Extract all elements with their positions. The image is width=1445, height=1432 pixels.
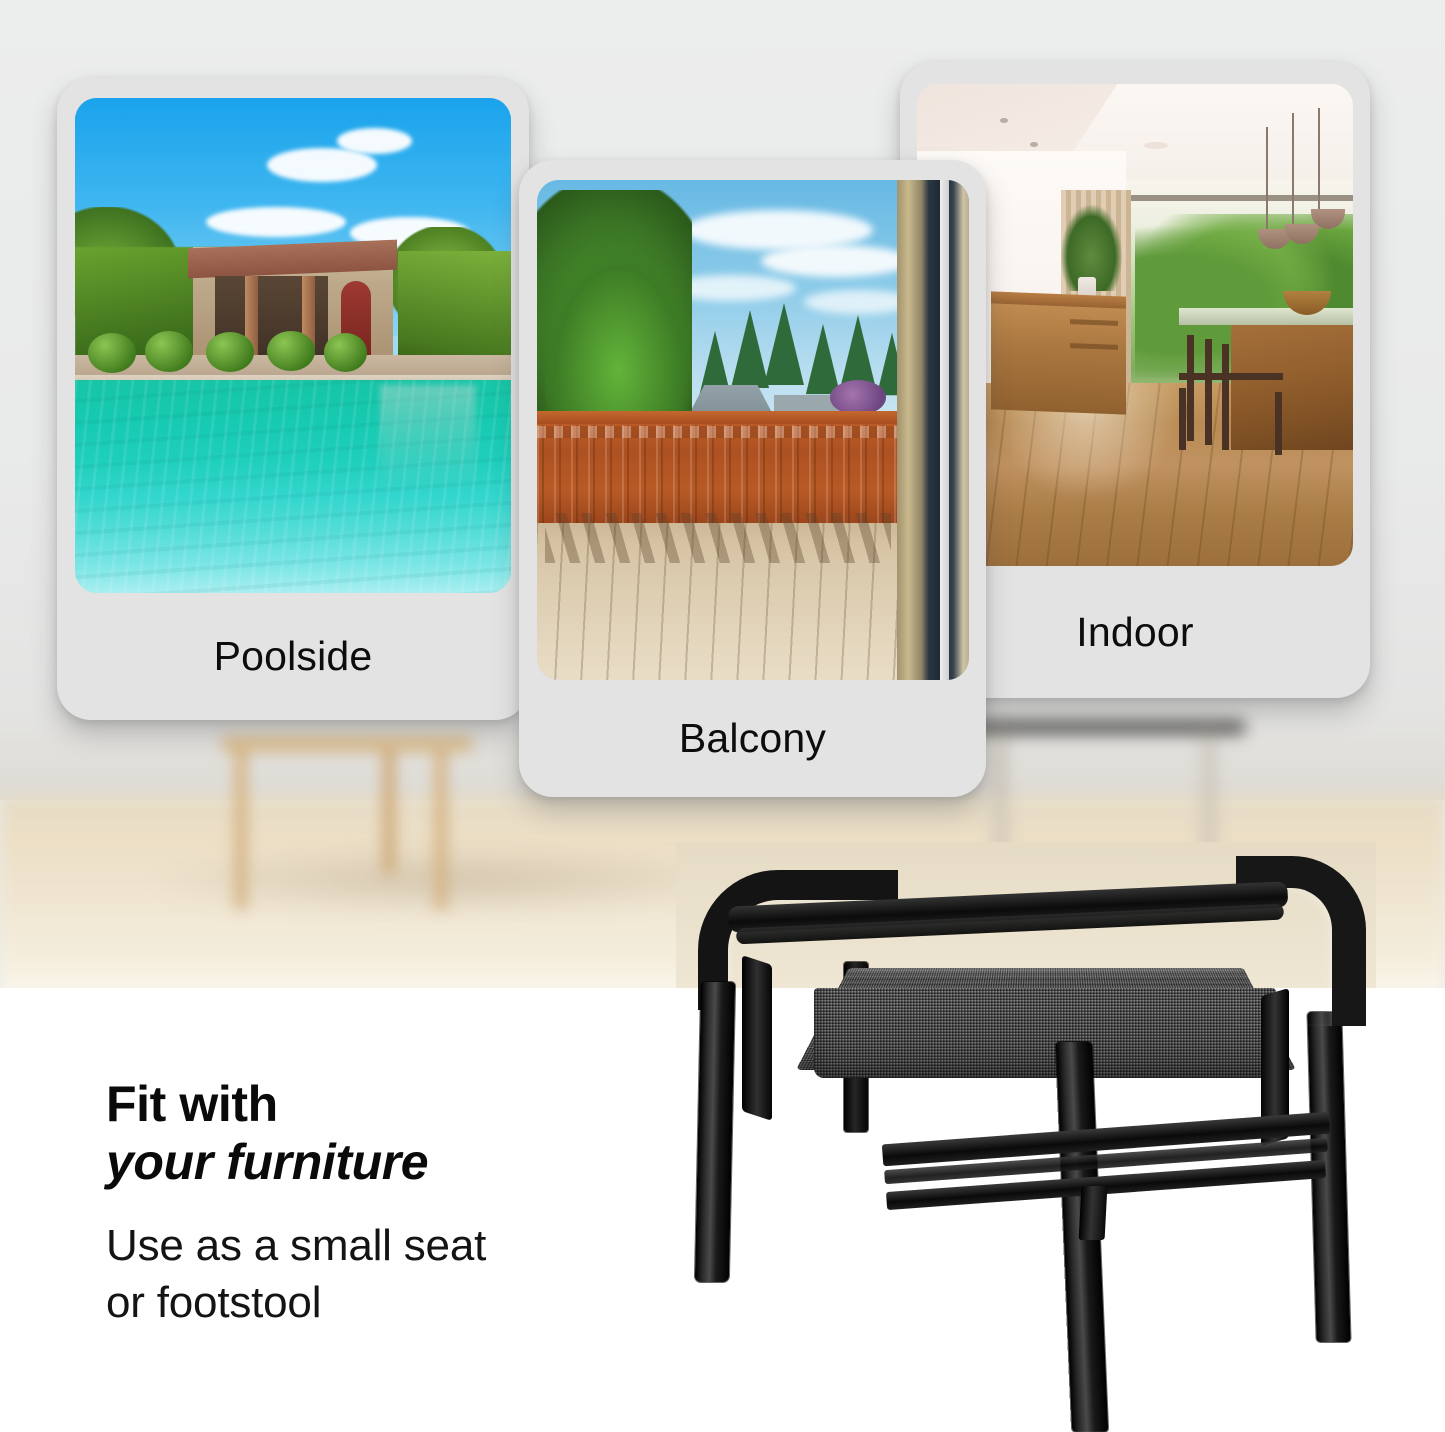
copy-block: Fit with your furniture Use as a small s… [106, 1075, 726, 1331]
blurred-side-table [222, 735, 472, 910]
subcopy-line-2: or footstool [106, 1274, 726, 1331]
ottoman-right-arm-curve [1236, 856, 1366, 1026]
headline-line-2: your furniture [106, 1133, 726, 1191]
headline-line-1: Fit with [106, 1075, 726, 1133]
subcopy-line-1: Use as a small seat [106, 1217, 726, 1274]
ottoman-left-side-rail [742, 955, 772, 1121]
balcony-photo [537, 180, 969, 680]
use-case-card-poolside[interactable]: Poolside [57, 78, 529, 720]
use-case-card-label: Poolside [57, 593, 529, 720]
ottoman-center-brace [1079, 1186, 1108, 1240]
use-case-card-balcony[interactable]: Balcony [519, 160, 986, 797]
poolside-photo [75, 98, 511, 593]
marketing-image: Indoor Poolside [0, 0, 1445, 1432]
use-case-card-label: Balcony [519, 680, 986, 797]
product-ottoman [676, 842, 1376, 1432]
